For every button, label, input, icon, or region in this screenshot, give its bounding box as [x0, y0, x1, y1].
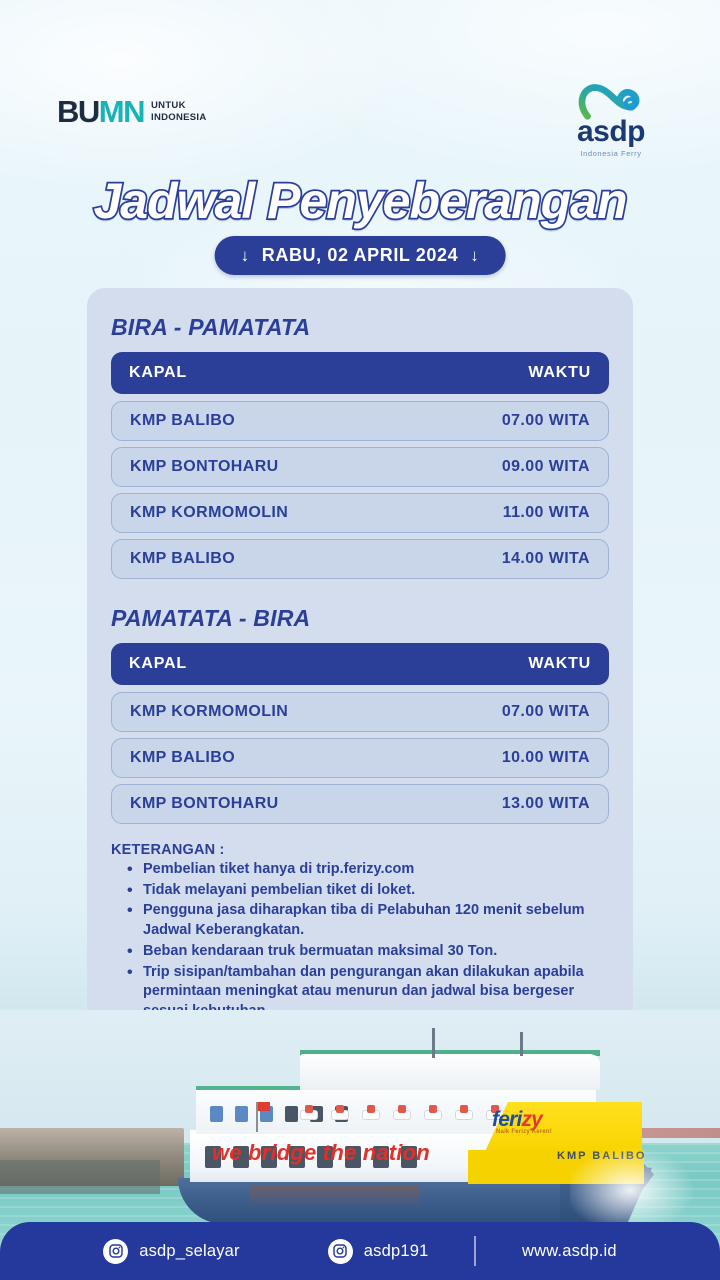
- lifeboat: [455, 1110, 473, 1120]
- table-row: KMP KORMOMOLIN 07.00 WITA: [111, 692, 609, 732]
- table-header-row-1: KAPAL WAKTU: [111, 352, 609, 394]
- lifeboat: [424, 1110, 442, 1120]
- footer-instagram-1-label: asdp_selayar: [139, 1242, 240, 1261]
- ship-deck3: [300, 1054, 600, 1090]
- ship-window: [235, 1106, 248, 1122]
- ship-slogan: we bridge the nation: [212, 1140, 430, 1166]
- bumn-tagline-line1: UNTUK: [151, 100, 206, 112]
- bumn-logo: BUMN UNTUK INDONESIA: [57, 96, 206, 127]
- ferizy-tagline: Naik Ferizy Keren!: [496, 1129, 552, 1135]
- cell-kapal: KMP BALIBO: [130, 749, 235, 767]
- cell-kapal: KMP KORMOMOLIN: [130, 703, 288, 721]
- ship-lifeboats: [300, 1110, 504, 1120]
- page-title: Jadwal Penyeberangan: [0, 172, 720, 230]
- note-item: Tidak melayani pembelian tiket di loket.: [127, 881, 609, 901]
- table-header-row-2: KAPAL WAKTU: [111, 643, 609, 685]
- date-text: RABU, 02 APRIL 2024: [262, 245, 458, 266]
- column-header-kapal: KAPAL: [129, 364, 187, 382]
- footer-divider: [474, 1236, 476, 1266]
- cell-waktu: 11.00 WITA: [503, 504, 590, 522]
- table-row: KMP BONTOHARU 13.00 WITA: [111, 784, 609, 824]
- arrow-down-left-icon: ↓: [241, 246, 250, 266]
- footer-instagram-2[interactable]: asdp191: [328, 1239, 429, 1264]
- table-row: KMP BALIBO 14.00 WITA: [111, 539, 609, 579]
- table-row: KMP BALIBO 10.00 WITA: [111, 738, 609, 778]
- ferizy-logo-zy: zy: [521, 1108, 542, 1131]
- asdp-wordmark: asdp: [557, 118, 665, 147]
- bumn-mark-mn: MN: [99, 94, 144, 129]
- instagram-icon: [103, 1239, 128, 1264]
- ship-window: [285, 1106, 298, 1122]
- ship-flag: [258, 1102, 270, 1111]
- bumn-wordmark: BUMN: [57, 96, 144, 127]
- lifeboat: [300, 1110, 318, 1120]
- note-item: Pembelian tiket hanya di trip.ferizy.com: [127, 860, 609, 880]
- footer-instagram-2-label: asdp191: [364, 1242, 429, 1261]
- column-header-kapal: KAPAL: [129, 655, 187, 673]
- schedule-card: BIRA - PAMATATA KAPAL WAKTU KMP BALIBO 0…: [87, 288, 633, 1065]
- note-item: Beban kendaraan truk bermuatan maksimal …: [127, 942, 609, 962]
- lifeboat: [331, 1110, 349, 1120]
- cell-waktu: 07.00 WITA: [502, 412, 590, 430]
- footer-bar: asdp_selayar asdp191 www.asdp.id: [0, 1222, 720, 1280]
- table-row: KMP BONTOHARU 09.00 WITA: [111, 447, 609, 487]
- cell-waktu: 07.00 WITA: [502, 703, 590, 721]
- notes-heading: KETERANGAN :: [111, 842, 609, 858]
- poster-root: BUMN UNTUK INDONESIA asdp Indonesia Ferr…: [0, 0, 720, 1280]
- ship-mast-aft: [520, 1032, 523, 1056]
- ship-mast: [432, 1028, 435, 1058]
- date-badge: ↓ RABU, 02 APRIL 2024 ↓: [215, 236, 506, 275]
- route-title-bira-pamatata: BIRA - PAMATATA: [111, 314, 609, 341]
- lifeboat: [393, 1110, 411, 1120]
- cell-kapal: KMP BONTOHARU: [130, 795, 279, 813]
- table-row: KMP KORMOMOLIN 11.00 WITA: [111, 493, 609, 533]
- table-row: KMP BALIBO 07.00 WITA: [111, 401, 609, 441]
- column-header-waktu: WAKTU: [528, 364, 591, 382]
- cell-waktu: 14.00 WITA: [502, 550, 590, 568]
- instagram-icon: [328, 1239, 353, 1264]
- bumn-mark-bu: BU: [57, 94, 99, 129]
- ship-hull-rust: [250, 1186, 420, 1208]
- asdp-logo: asdp Indonesia Ferry: [557, 80, 665, 158]
- cell-kapal: KMP BALIBO: [130, 412, 235, 430]
- asdp-tagline: Indonesia Ferry: [557, 149, 665, 158]
- footer-instagram-1[interactable]: asdp_selayar: [103, 1239, 240, 1264]
- ferizy-logo-fe: feri: [492, 1108, 521, 1131]
- route-title-pamatata-bira: PAMATATA - BIRA: [111, 605, 609, 632]
- lifeboat: [362, 1110, 380, 1120]
- ship-window: [210, 1106, 223, 1122]
- column-header-waktu: WAKTU: [528, 655, 591, 673]
- cell-waktu: 10.00 WITA: [502, 749, 590, 767]
- photo-dock-shadow: [0, 1160, 160, 1194]
- cell-waktu: 09.00 WITA: [502, 458, 590, 476]
- bumn-tagline-line2: INDONESIA: [151, 112, 206, 124]
- cell-kapal: KMP KORMOMOLIN: [130, 504, 288, 522]
- cell-waktu: 13.00 WITA: [502, 795, 590, 813]
- cell-kapal: KMP BALIBO: [130, 550, 235, 568]
- bumn-tagline: UNTUK INDONESIA: [151, 100, 206, 123]
- cell-kapal: KMP BONTOHARU: [130, 458, 279, 476]
- footer-website[interactable]: www.asdp.id: [522, 1242, 617, 1261]
- arrow-down-right-icon: ↓: [470, 246, 479, 266]
- note-item: Pengguna jasa diharapkan tiba di Pelabuh…: [127, 901, 609, 940]
